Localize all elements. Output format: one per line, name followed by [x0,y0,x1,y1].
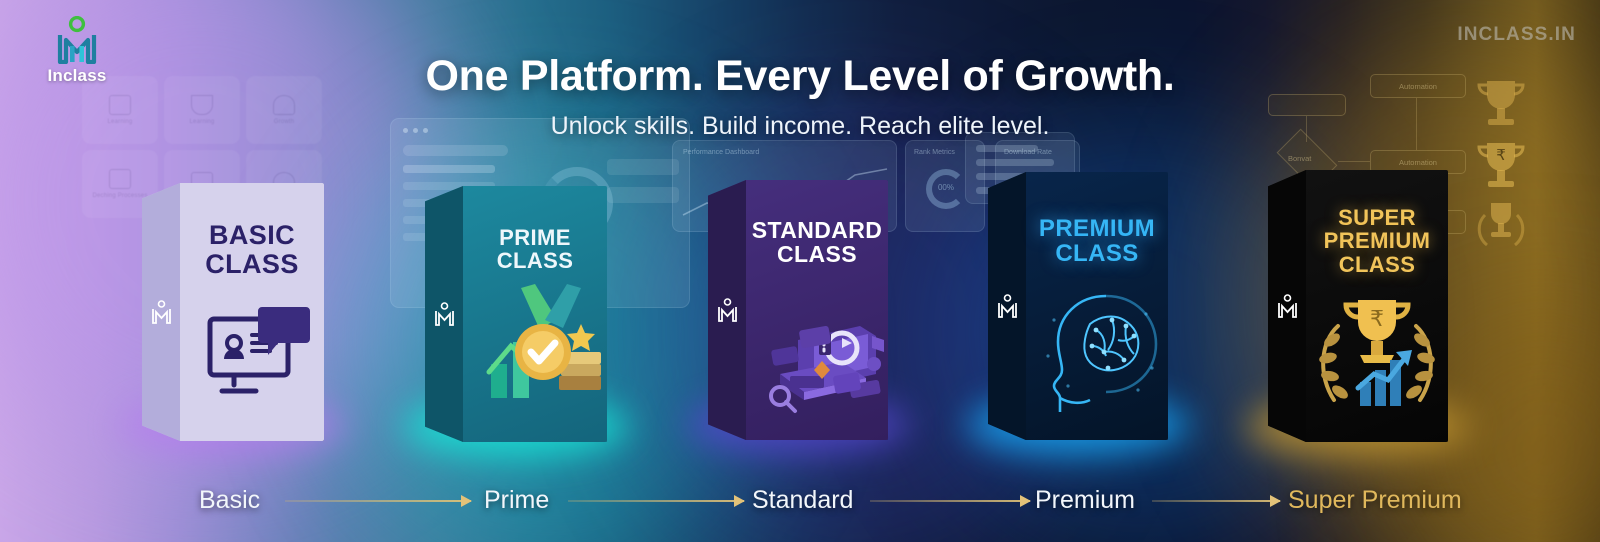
inclass-mark-icon [717,298,738,322]
step-label-standard[interactable]: Standard [752,486,853,515]
connector-arrow [870,495,1030,507]
connector-arrow [568,495,744,507]
inclass-mark-icon [434,302,455,326]
inclass-mark-icon [1277,294,1298,318]
step-label-super-premium[interactable]: Super Premium [1288,486,1462,515]
box-title: PRIME CLASS [463,226,607,273]
promo-banner: Learning Learning Growth Deching Process… [0,0,1600,542]
product-box-standard[interactable]: STANDARD CLASS [708,180,888,440]
progression-steps: Basic Prime Standard Premium Super Premi… [0,486,1600,520]
site-watermark: INCLASS.IN [1457,24,1576,46]
step-label-basic[interactable]: Basic [199,486,260,515]
inclass-mark-icon [997,294,1018,318]
page-subtitle: Unlock skills. Build income. Reach elite… [0,112,1600,141]
inclass-m-logo-icon [54,16,100,64]
box-title: SUPER PREMIUM CLASS [1306,206,1448,276]
box-spine [425,186,463,442]
product-box-basic[interactable]: BASIC CLASS [142,183,324,441]
monitor-profile-chat-icon [204,301,314,411]
box-spine [142,183,180,441]
box-title: STANDARD CLASS [746,218,888,267]
box-title: BASIC CLASS [180,221,324,278]
product-box-super-premium[interactable]: SUPER PREMIUM CLASS ₹ [1268,170,1448,442]
inclass-mark-icon [151,300,172,324]
step-label-prime[interactable]: Prime [484,486,549,515]
product-box-prime[interactable]: PRIME CLASS [425,186,607,442]
brand-logo[interactable]: Inclass [34,16,120,86]
step-label-premium[interactable]: Premium [1035,486,1135,515]
svg-text:₹: ₹ [1370,307,1384,332]
connector-arrow [285,495,471,507]
page-title: One Platform. Every Level of Growth. [0,52,1600,101]
brand-name: Inclass [34,66,120,86]
box-spine [708,180,746,440]
box-title: PREMIUM CLASS [1026,216,1168,267]
medal-growth-books-icon [477,280,605,420]
box-spine [988,172,1026,440]
laptop-devices-icon [756,288,888,416]
brain-head-neural-icon [1034,290,1166,416]
box-spine [1268,170,1306,442]
trophy-laurel-growth-icon: ₹ [1308,296,1446,420]
product-box-premium[interactable]: PREMIUM CLASS [988,172,1168,440]
connector-arrow [1152,495,1280,507]
